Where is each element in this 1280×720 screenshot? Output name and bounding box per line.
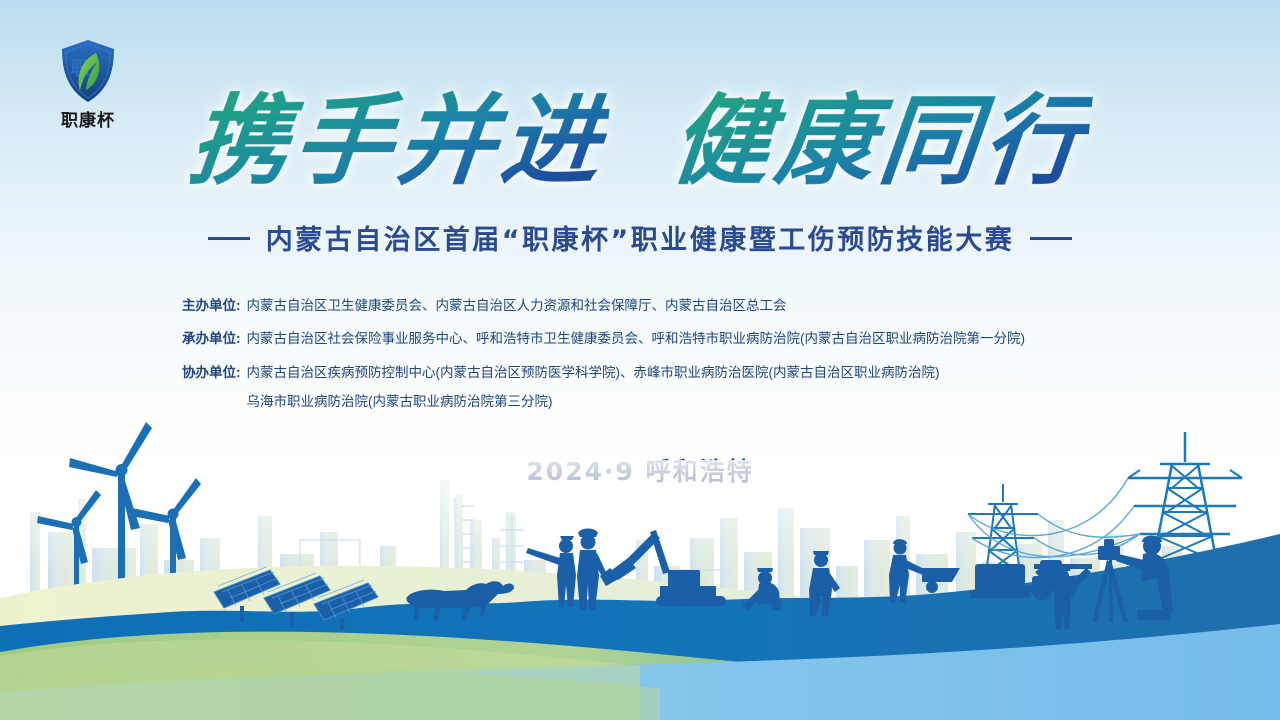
organizer-role-host: 主办单位: bbox=[182, 296, 241, 316]
organizer-list: 主办单位: 内蒙古自治区卫生健康委员会、内蒙古自治区人力资源和社会保障厅、内蒙古… bbox=[182, 296, 1182, 412]
poster-canvas: 职 职康杯 携手并进 健康同行 内蒙古自治区首届“职康杯”职业健康暨工伤预防技能… bbox=[0, 0, 1280, 720]
title-line-right: 健康同行 bbox=[666, 62, 1097, 204]
page-title: 携手并进 健康同行 bbox=[0, 62, 1280, 204]
organizer-value-host: 内蒙古自治区卫生健康委员会、内蒙古自治区人力资源和社会保障厅、内蒙古自治区总工会 bbox=[247, 296, 787, 316]
subtitle-text: 内蒙古自治区首届“职康杯”职业健康暨工伤预防技能大赛 bbox=[266, 225, 1015, 256]
machinery bbox=[970, 564, 1030, 598]
title-line-left: 携手并进 bbox=[183, 62, 614, 204]
organizer-value-support-line1: 内蒙古自治区疾病预防控制中心(内蒙古自治区预防医学科学院)、赤峰市职业病防治医院… bbox=[247, 365, 940, 380]
organizer-row-coorganizer: 承办单位: 内蒙古自治区社会保险事业服务中心、呼和浩特市卫生健康委员会、呼和浩特… bbox=[182, 329, 1182, 349]
organizer-value-support: 内蒙古自治区疾病预防控制中心(内蒙古自治区预防医学科学院)、赤峰市职业病防治医院… bbox=[247, 363, 940, 413]
rule-left-icon bbox=[208, 237, 250, 240]
organizer-role-coorganizer: 承办单位: bbox=[182, 329, 241, 349]
rule-right-icon bbox=[1030, 237, 1072, 240]
event-subtitle: 内蒙古自治区首届“职康杯”职业健康暨工伤预防技能大赛 bbox=[0, 218, 1280, 257]
organizer-role-support: 协办单位: bbox=[182, 363, 241, 383]
organizer-value-support-line2: 乌海市职业病防治院(内蒙古职业病防治院第三分院) bbox=[247, 392, 940, 412]
organizer-row-support: 协办单位: 内蒙古自治区疾病预防控制中心(内蒙古自治区预防医学科学院)、赤峰市职… bbox=[182, 363, 1182, 413]
organizer-row-host: 主办单位: 内蒙古自治区卫生健康委员会、内蒙古自治区人力资源和社会保障厅、内蒙古… bbox=[182, 296, 1182, 316]
organizer-value-coorganizer: 内蒙古自治区社会保险事业服务中心、呼和浩特市卫生健康委员会、呼和浩特市职业病防治… bbox=[247, 329, 1026, 349]
scene-illustration bbox=[0, 420, 1280, 720]
